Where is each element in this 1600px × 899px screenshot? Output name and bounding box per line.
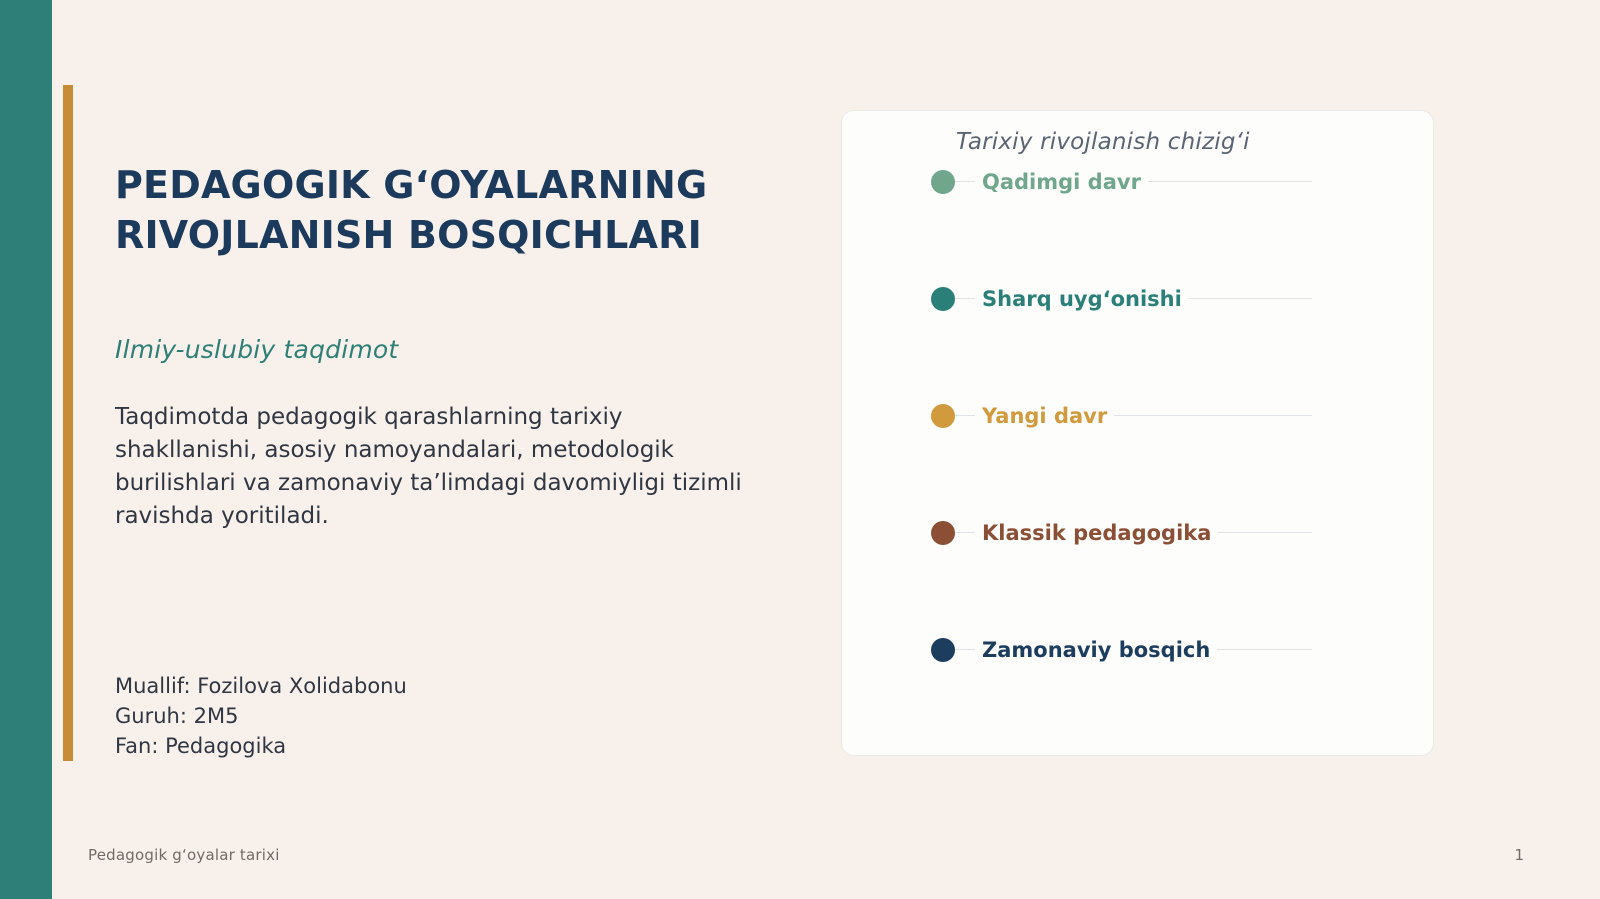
timeline-item[interactable]: Qadimgi davr — [842, 165, 1435, 199]
timeline-item-label: Yangi davr — [975, 399, 1114, 433]
timeline-item[interactable]: Klassik pedagogika — [842, 516, 1435, 550]
meta-author: Muallif: Fozilova Xolidabonu — [115, 672, 407, 702]
footer-label: Pedagogik g‘oyalar tarixi — [88, 846, 280, 864]
timeline-heading: Tarixiy rivojlanish chizig‘i — [956, 129, 1250, 155]
timeline-item-label: Klassik pedagogika — [975, 516, 1218, 550]
timeline-dot-icon — [931, 638, 955, 662]
left-content-column: PEDAGOGIK G‘OYALARNING RIVOJLANISH BOSQI… — [115, 0, 775, 899]
timeline-item[interactable]: Sharq uyg‘onishi — [842, 282, 1435, 316]
timeline-card: Tarixiy rivojlanish chizig‘i Qadimgi dav… — [841, 110, 1434, 756]
left-edge-bar — [0, 0, 52, 899]
timeline-item-label: Zamonaviy bosqich — [975, 633, 1217, 667]
page-title: PEDAGOGIK G‘OYALARNING RIVOJLANISH BOSQI… — [115, 160, 755, 260]
meta-group: Guruh: 2M5 — [115, 702, 407, 732]
author-meta-block: Muallif: Fozilova Xolidabonu Guruh: 2M5 … — [115, 672, 407, 761]
timeline-item-label: Sharq uyg‘onishi — [975, 282, 1189, 316]
timeline-dot-icon — [931, 521, 955, 545]
slide-canvas: PEDAGOGIK G‘OYALARNING RIVOJLANISH BOSQI… — [0, 0, 1600, 899]
timeline-list: Qadimgi davrSharq uyg‘onishiYangi davrKl… — [842, 165, 1435, 745]
timeline-item-label: Qadimgi davr — [975, 165, 1148, 199]
timeline-item[interactable]: Zamonaviy bosqich — [842, 633, 1435, 667]
timeline-item[interactable]: Yangi davr — [842, 399, 1435, 433]
page-number: 1 — [1514, 846, 1524, 864]
body-paragraph: Taqdimotda pedagogik qarashlarning tarix… — [115, 401, 760, 533]
timeline-dot-icon — [931, 170, 955, 194]
timeline-dot-icon — [931, 404, 955, 428]
timeline-dot-icon — [931, 287, 955, 311]
subtitle: Ilmiy-uslubiy taqdimot — [115, 335, 398, 364]
meta-subject: Fan: Pedagogika — [115, 732, 407, 762]
gold-accent-bar — [63, 85, 73, 761]
